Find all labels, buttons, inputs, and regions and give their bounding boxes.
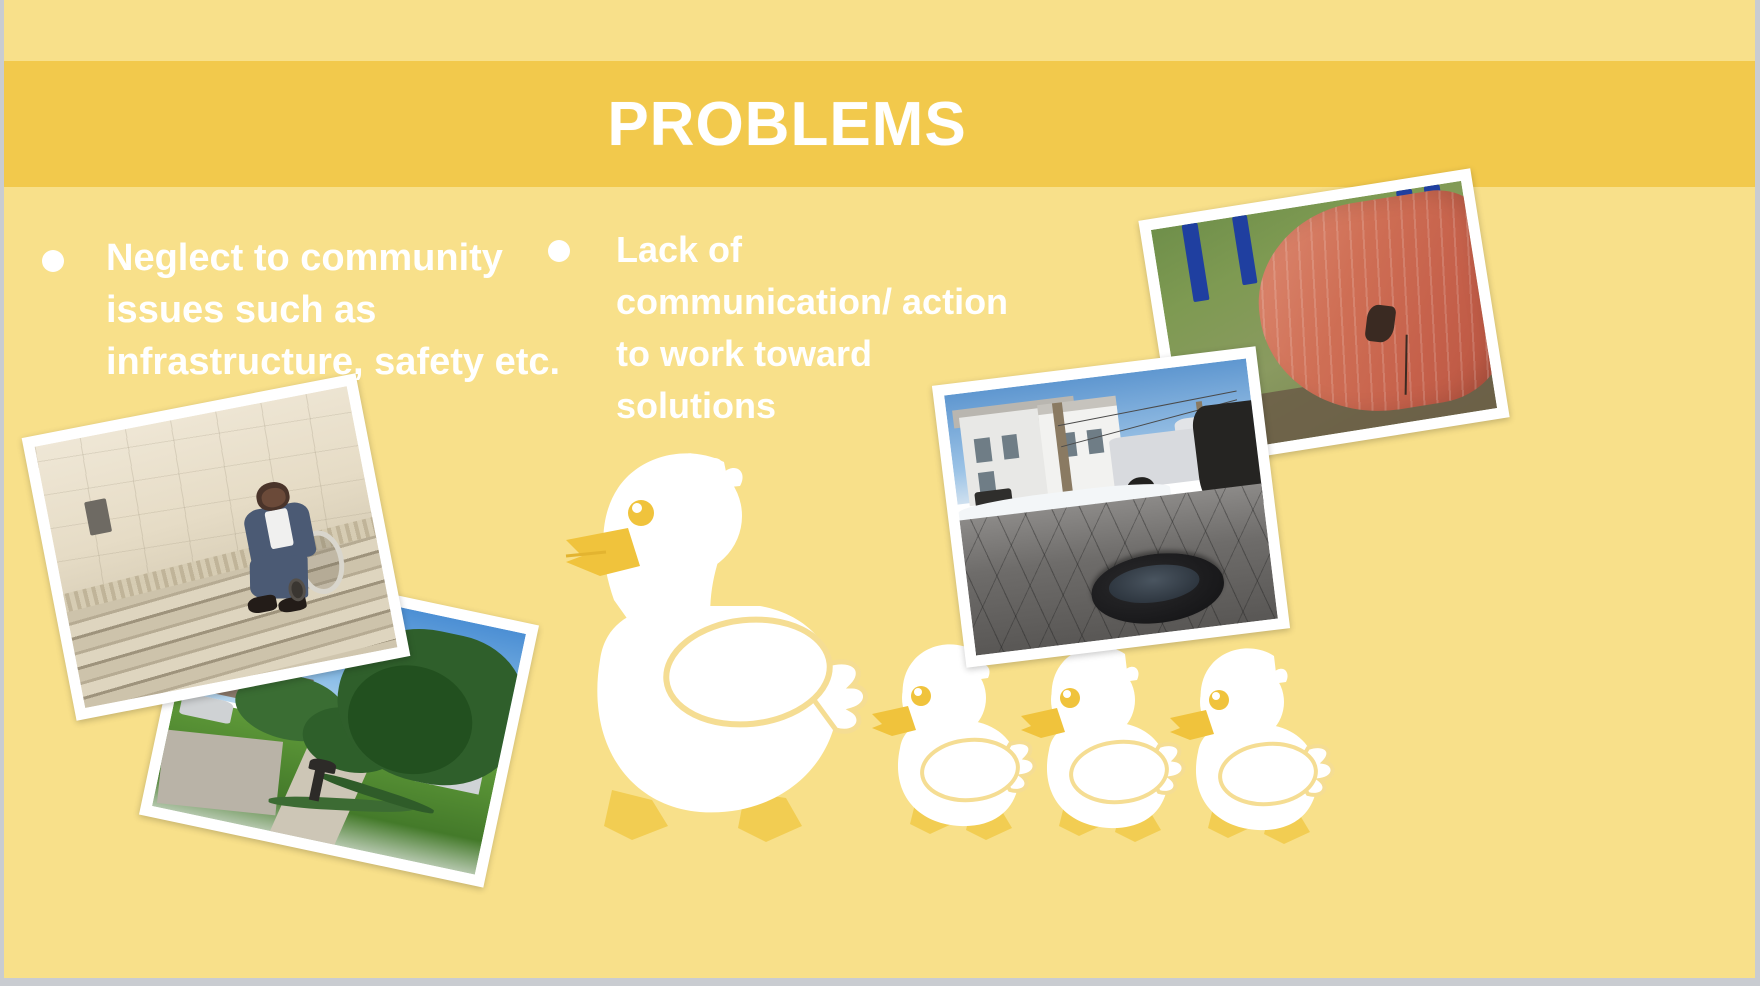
slide-bottom-edge (0, 978, 1760, 986)
bullet-communication: Lack of communication/ action to work to… (548, 224, 1018, 432)
bullet-neglect: Neglect to community issues such as infr… (42, 232, 602, 388)
bullet-communication-text: Lack of communication/ action to work to… (616, 224, 1018, 432)
presentation-slide: PROBLEMS Neglect to community issues suc… (0, 0, 1760, 986)
page-title: PROBLEMS (607, 89, 966, 160)
duckling-icon (1021, 646, 1184, 842)
slide-title-band: PROBLEMS (0, 61, 1758, 187)
duckling-icon (1170, 648, 1333, 844)
bullet-neglect-text: Neglect to community issues such as infr… (106, 232, 602, 388)
bullet-marker-icon (548, 240, 570, 262)
bullet-marker-icon (42, 250, 64, 272)
duckling-icon (872, 644, 1035, 840)
slide-right-edge (1755, 0, 1760, 986)
slide-left-edge (0, 0, 4, 986)
adult-duck-icon (566, 453, 866, 842)
